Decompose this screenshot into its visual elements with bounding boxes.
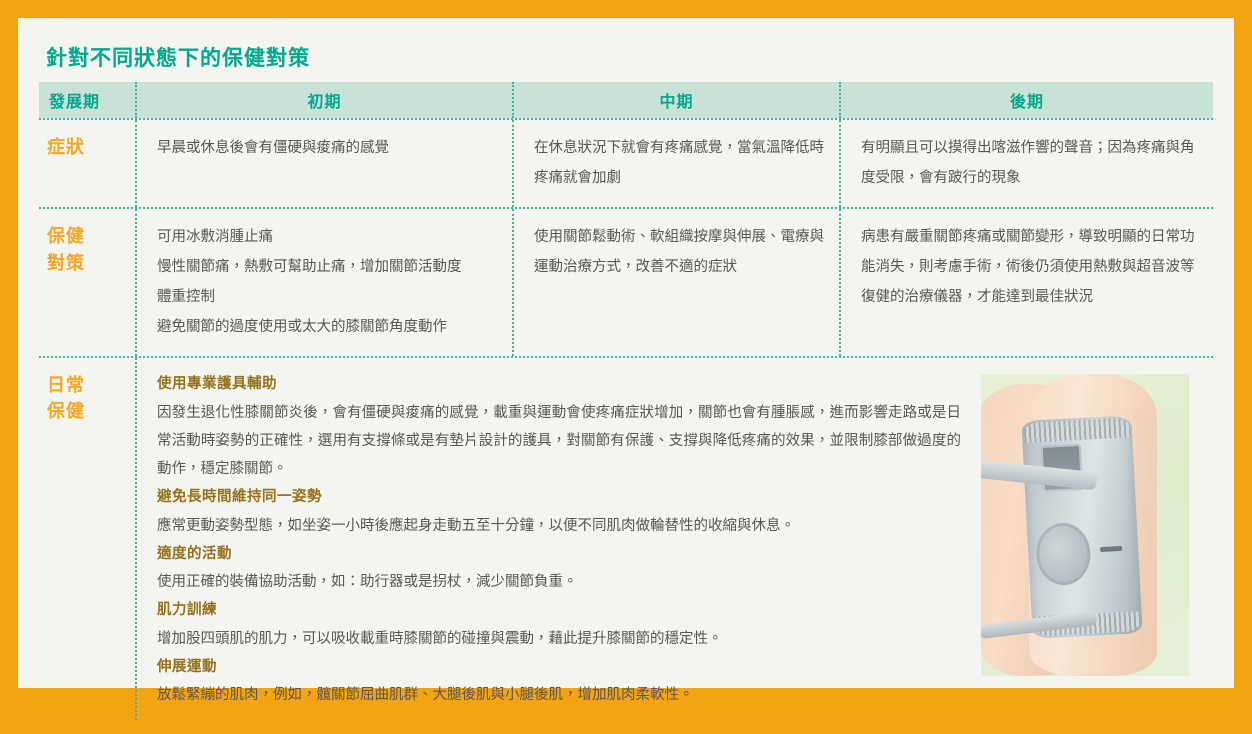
cell-line: 使用關節鬆動術、軟組織按摩與伸展、電療與運動治療方式，改善不適的症狀 bbox=[534, 223, 825, 282]
cell-line: 早晨或休息後會有僵硬與痠痛的感覺 bbox=[157, 134, 498, 164]
row-label-line: 對策 bbox=[47, 250, 129, 276]
cell-line: 避免關節的過度使用或太大的膝關節角度動作 bbox=[157, 313, 498, 343]
cell-line: 慢性關節痛，熱敷可幫助止痛，增加關節活動度 bbox=[157, 253, 498, 283]
daily-section: 肌力訓練 增加股四頭肌的肌力，可以吸收載重時膝關節的碰撞與震動，藉此提升膝關節的… bbox=[157, 596, 961, 653]
content-card: 針對不同狀態下的保健對策 發展期 初期 中期 後期 症狀 早晨或休息後會有僵硬與… bbox=[18, 18, 1234, 688]
daily-section-body: 放鬆緊繃的肌肉，例如，髖關節屈曲肌群、大腿後肌與小腿後肌，增加肌肉柔軟性。 bbox=[157, 681, 961, 709]
row-label-daily-care: 日常保健 bbox=[39, 358, 135, 719]
page-title: 針對不同狀態下的保健對策 bbox=[38, 38, 1214, 82]
brace-knee-opening bbox=[1035, 522, 1092, 587]
daily-section: 使用專業護具輔助 因發生退化性膝關節炎後，會有僵硬與痠痛的感覺，載重與運動會使疼… bbox=[157, 370, 961, 483]
cell-line: 體重控制 bbox=[157, 283, 498, 313]
care-strategy-table: 發展期 初期 中期 後期 症狀 早晨或休息後會有僵硬與痠痛的感覺 在休息狀況下就… bbox=[39, 82, 1213, 720]
daily-section-heading: 伸展運動 bbox=[157, 653, 961, 681]
row-label-line: 保健 bbox=[47, 223, 129, 249]
cell-line: 在休息狀況下就會有疼痛感覺，當氣溫降低時疼痛就會加劇 bbox=[534, 134, 825, 193]
table-header-early: 初期 bbox=[135, 82, 512, 118]
daily-section-body: 應常更動姿勢型態，如坐姿一小時後應起身走動五至十分鐘，以便不同肌肉做輪替性的收縮… bbox=[157, 512, 961, 540]
table-row-care: 保健對策 可用冰敷消腫止痛慢性關節痛，熱敷可幫助止痛，增加關節活動度體重控制避免… bbox=[39, 209, 1213, 356]
cell-care-late: 病患有嚴重關節疼痛或關節變形，導致明顯的日常功能消失，則考慮手術，術後仍須使用熱… bbox=[839, 209, 1213, 356]
row-label-symptoms: 症狀 bbox=[39, 120, 135, 207]
table-header-row: 發展期 初期 中期 後期 bbox=[39, 82, 1213, 118]
daily-section-heading: 適度的活動 bbox=[157, 540, 961, 568]
knee-brace-photo bbox=[981, 374, 1189, 676]
row-label-line: 保健 bbox=[47, 398, 129, 424]
daily-section-heading: 肌力訓練 bbox=[157, 596, 961, 624]
row-label-line: 日常 bbox=[47, 372, 129, 398]
cell-line: 有明顯且可以摸得出喀滋作響的聲音；因為疼痛與角度受限，會有跛行的現象 bbox=[861, 134, 1199, 193]
knee-brace-photo-wrap bbox=[981, 370, 1199, 709]
cell-symptoms-early: 早晨或休息後會有僵硬與痠痛的感覺 bbox=[135, 120, 512, 207]
cell-line: 病患有嚴重關節疼痛或關節變形，導致明顯的日常功能消失，則考慮手術，術後仍須使用熱… bbox=[861, 223, 1199, 312]
table-row-daily-care: 日常保健 使用專業護具輔助 因發生退化性膝關節炎後，會有僵硬與痠痛的感覺，載重與… bbox=[39, 358, 1213, 719]
brace-hinge bbox=[1100, 546, 1122, 552]
table-header-middle: 中期 bbox=[512, 82, 839, 118]
daily-section-heading: 避免長時間維持同一姿勢 bbox=[157, 483, 961, 511]
table-header-late: 後期 bbox=[839, 82, 1213, 118]
table-row-symptoms: 症狀 早晨或休息後會有僵硬與痠痛的感覺 在休息狀況下就會有疼痛感覺，當氣溫降低時… bbox=[39, 120, 1213, 207]
cell-care-early: 可用冰敷消腫止痛慢性關節痛，熱敷可幫助止痛，增加關節活動度體重控制避免關節的過度… bbox=[135, 209, 512, 356]
cell-symptoms-late: 有明顯且可以摸得出喀滋作響的聲音；因為疼痛與角度受限，會有跛行的現象 bbox=[839, 120, 1213, 207]
cell-symptoms-middle: 在休息狀況下就會有疼痛感覺，當氣溫降低時疼痛就會加劇 bbox=[512, 120, 839, 207]
daily-care-content: 使用專業護具輔助 因發生退化性膝關節炎後，會有僵硬與痠痛的感覺，載重與運動會使疼… bbox=[135, 358, 1213, 719]
knee-brace-shape bbox=[1021, 416, 1142, 639]
daily-section: 避免長時間維持同一姿勢 應常更動姿勢型態，如坐姿一小時後應起身走動五至十分鐘，以… bbox=[157, 483, 961, 540]
daily-section: 伸展運動 放鬆緊繃的肌肉，例如，髖關節屈曲肌群、大腿後肌與小腿後肌，增加肌肉柔軟… bbox=[157, 653, 961, 710]
cell-care-middle: 使用關節鬆動術、軟組織按摩與伸展、電療與運動治療方式，改善不適的症狀 bbox=[512, 209, 839, 356]
cell-line: 可用冰敷消腫止痛 bbox=[157, 223, 498, 253]
daily-care-sections: 使用專業護具輔助 因發生退化性膝關節炎後，會有僵硬與痠痛的感覺，載重與運動會使疼… bbox=[157, 370, 981, 709]
bottom-spacer bbox=[38, 720, 1214, 734]
brace-top-band bbox=[1023, 418, 1130, 444]
daily-section-body: 使用正確的裝備協助活動，如：助行器或是拐杖，減少關節負重。 bbox=[157, 568, 961, 596]
row-label-symptoms-text: 症狀 bbox=[47, 137, 85, 157]
daily-section-body: 因發生退化性膝關節炎後，會有僵硬與痠痛的感覺，載重與運動會使疼痛症狀增加，關節也… bbox=[157, 399, 961, 484]
orange-frame: 針對不同狀態下的保健對策 發展期 初期 中期 後期 症狀 早晨或休息後會有僵硬與… bbox=[0, 0, 1252, 708]
daily-section-heading: 使用專業護具輔助 bbox=[157, 370, 961, 398]
daily-section-body: 增加股四頭肌的肌力，可以吸收載重時膝關節的碰撞與震動，藉此提升膝關節的穩定性。 bbox=[157, 625, 961, 653]
table-header-stage: 發展期 bbox=[39, 82, 135, 118]
daily-section: 適度的活動 使用正確的裝備協助活動，如：助行器或是拐杖，減少關節負重。 bbox=[157, 540, 961, 597]
row-label-care: 保健對策 bbox=[39, 209, 135, 356]
